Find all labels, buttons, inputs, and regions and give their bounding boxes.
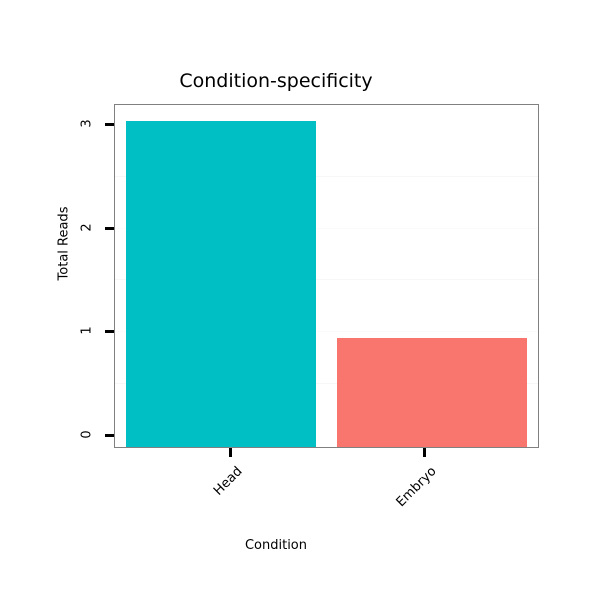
y-tick-mark-1 (105, 330, 114, 333)
y-tick-mark-0 (105, 434, 114, 437)
y-tick-mark-3 (105, 123, 114, 126)
x-tick-label-head: Head (140, 464, 246, 570)
y-tick-label-3: 3 (80, 109, 95, 139)
bar-chart-figure: Condition-specificity Total Reads 3 2 1 … (0, 0, 600, 600)
plot-panel (114, 104, 539, 448)
x-tick-label-embryo: Embryo (334, 464, 440, 570)
y-tick-label-2: 2 (80, 213, 95, 243)
bar-head[interactable] (126, 121, 316, 447)
x-tick-mark-embryo (423, 448, 426, 457)
y-tick-label-1: 1 (80, 316, 95, 346)
y-axis-title: Total Reads (57, 174, 72, 314)
bar-embryo[interactable] (337, 338, 527, 447)
x-tick-mark-head (229, 448, 232, 457)
x-axis-title: Condition (0, 538, 600, 553)
y-tick-mark-2 (105, 227, 114, 230)
chart-title: Condition-specificity (0, 70, 600, 92)
y-tick-label-0: 0 (80, 420, 95, 450)
